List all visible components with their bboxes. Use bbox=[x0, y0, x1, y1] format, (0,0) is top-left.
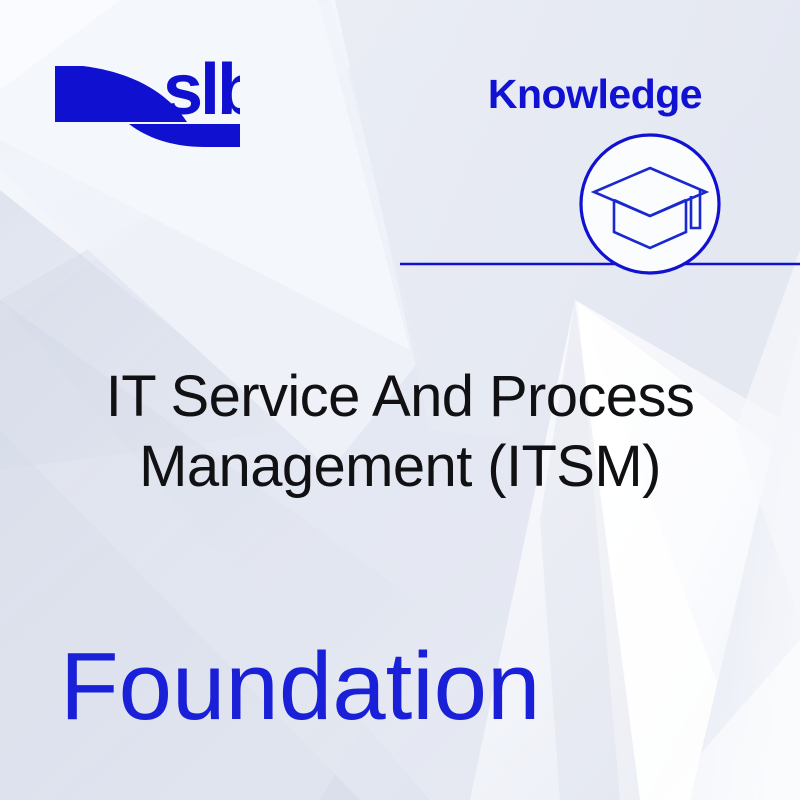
course-badge-card: slb Knowledge IT Service And Process Man… bbox=[0, 0, 800, 800]
course-title-line-2: Management (ITSM) bbox=[0, 432, 800, 502]
course-title-line-1: IT Service And Process bbox=[0, 362, 800, 432]
medallion-circle bbox=[581, 135, 719, 273]
course-level: Foundation bbox=[60, 637, 540, 737]
course-title: IT Service And Process Management (ITSM) bbox=[0, 362, 800, 502]
